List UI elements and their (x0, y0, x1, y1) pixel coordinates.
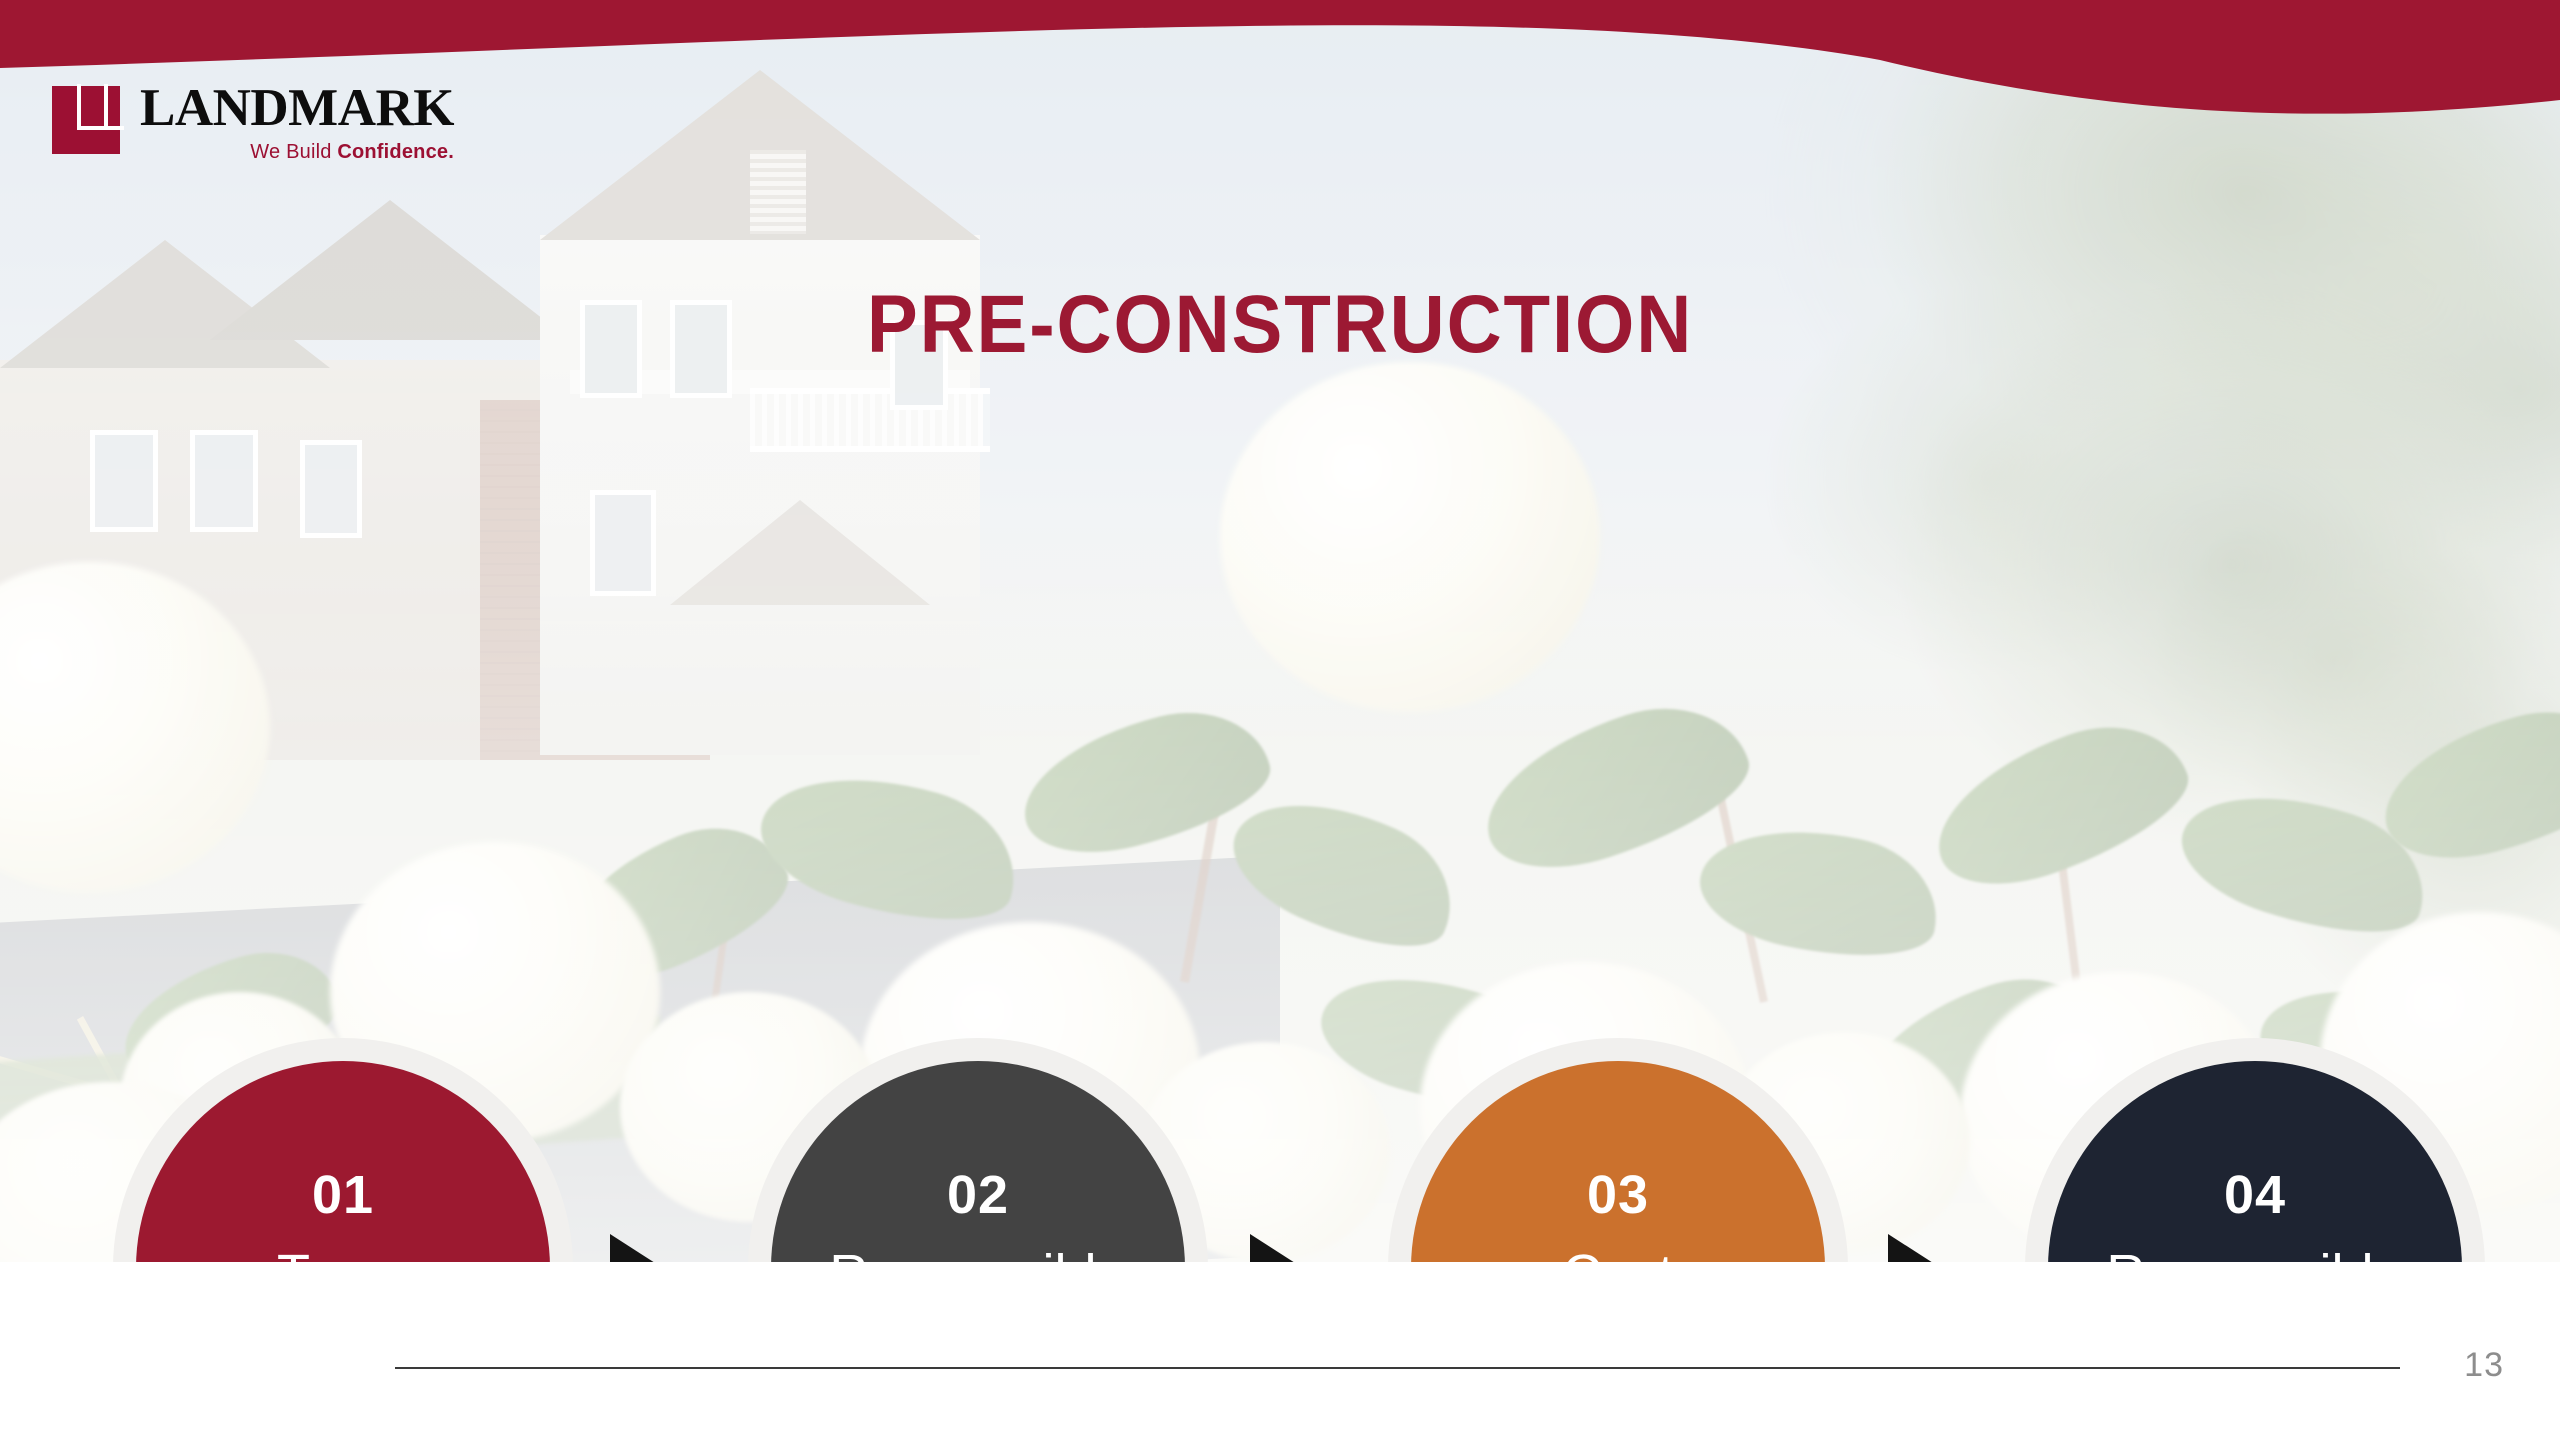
flow-node-1-number: 01 (312, 1168, 374, 1222)
landmark-logo-mark-icon (52, 86, 120, 154)
flow-node-3-number: 03 (1587, 1168, 1649, 1222)
page-title: PRE-CONSTRUCTION (90, 278, 2471, 372)
tagline-bold-text: Confidence. (337, 141, 454, 163)
page-number: 13 (2464, 1346, 2504, 1385)
landmark-logo: LANDMARK We Build Confidence. (52, 82, 454, 162)
landmark-logo-tagline: We Build Confidence. (140, 142, 454, 162)
flow-node-2-number: 02 (947, 1168, 1009, 1222)
process-flow-diagram: 01 Team Engagement 02 Responsible Budget… (0, 516, 2560, 986)
slide: PRE-CONSTRUCTION 01 Team Engagement 02 R… (0, 0, 2560, 1440)
flow-node-4-number: 04 (2224, 1168, 2286, 1222)
slide-footer (0, 1262, 2560, 1440)
footer-divider (395, 1367, 2400, 1369)
tagline-light-text: We Build (250, 141, 337, 163)
landmark-logo-wordmark: LANDMARK (140, 82, 454, 135)
